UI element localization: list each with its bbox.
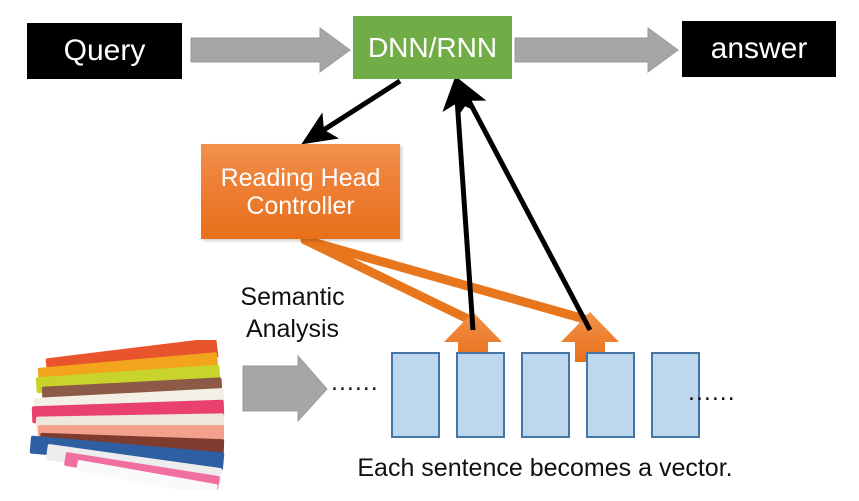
query-box[interactable]: Query bbox=[27, 23, 182, 79]
diagram-canvas: ...... ...... Query DNN/RNN answer Readi… bbox=[0, 0, 859, 501]
dnn-rnn-box[interactable]: DNN/RNN bbox=[353, 16, 512, 79]
black-link-slot2-to-model bbox=[456, 84, 473, 330]
memory-vector-slot[interactable] bbox=[586, 352, 635, 438]
flow-arrow-query-to-model bbox=[191, 28, 350, 72]
memory-vector-slot[interactable] bbox=[456, 352, 505, 438]
black-link-model-to-controller bbox=[308, 81, 400, 140]
reading-head-controller-line1: Reading Head bbox=[221, 164, 381, 192]
reading-head-controller-line2: Controller bbox=[246, 192, 354, 220]
answer-box[interactable]: answer bbox=[682, 21, 836, 77]
memory-vector-slot[interactable] bbox=[521, 352, 570, 438]
documents-stack-image bbox=[28, 340, 230, 490]
black-link-slot4-to-model bbox=[460, 84, 590, 330]
semantic-analysis-label: Semantic Analysis bbox=[210, 281, 375, 345]
ellipsis-left: ...... bbox=[331, 368, 379, 397]
flow-arrow-model-to-answer bbox=[515, 28, 678, 72]
caption-label: Each sentence becomes a vector. bbox=[300, 452, 790, 484]
reading-head-controller-box[interactable]: Reading Head Controller bbox=[201, 144, 400, 239]
memory-vector-slot[interactable] bbox=[391, 352, 440, 438]
flow-arrow-documents-to-memory bbox=[243, 356, 327, 421]
ellipsis-right: ...... bbox=[688, 378, 736, 407]
